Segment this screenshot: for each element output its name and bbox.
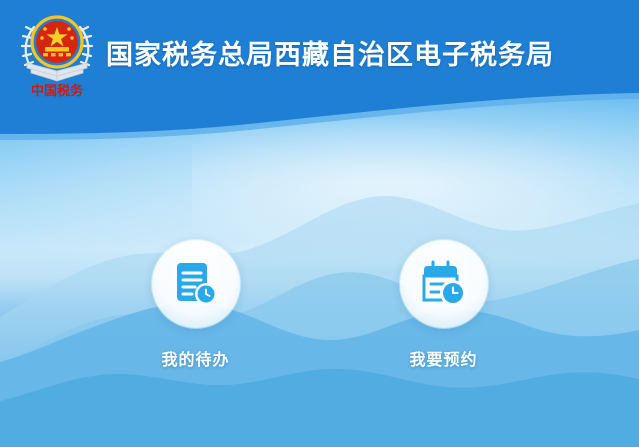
tile-my-todo-label: 我的待办 bbox=[161, 346, 229, 370]
header-content: 中国税务 国家税务总局西藏自治区电子税务局 bbox=[0, 0, 639, 100]
tile-make-appointment-label: 我要预约 bbox=[409, 346, 477, 370]
tile-make-appointment-circle[interactable] bbox=[400, 240, 488, 328]
tile-make-appointment[interactable]: 我要预约 bbox=[384, 240, 504, 370]
tile-my-todo[interactable]: 我的待办 bbox=[136, 240, 256, 370]
page-title: 国家税务总局西藏自治区电子税务局 bbox=[106, 33, 554, 72]
electronic-tax-bureau-page: 中国税务 国家税务总局西藏自治区电子税务局 bbox=[0, 0, 639, 447]
tile-my-todo-circle[interactable] bbox=[152, 240, 240, 328]
calendar-clock-icon bbox=[418, 258, 470, 310]
quick-entry-tiles: 我的待办 bbox=[0, 240, 639, 370]
emblem-caption: 中国税务 bbox=[31, 83, 84, 97]
document-clock-icon bbox=[170, 258, 222, 310]
china-tax-emblem-icon: 中国税务 bbox=[14, 5, 100, 97]
